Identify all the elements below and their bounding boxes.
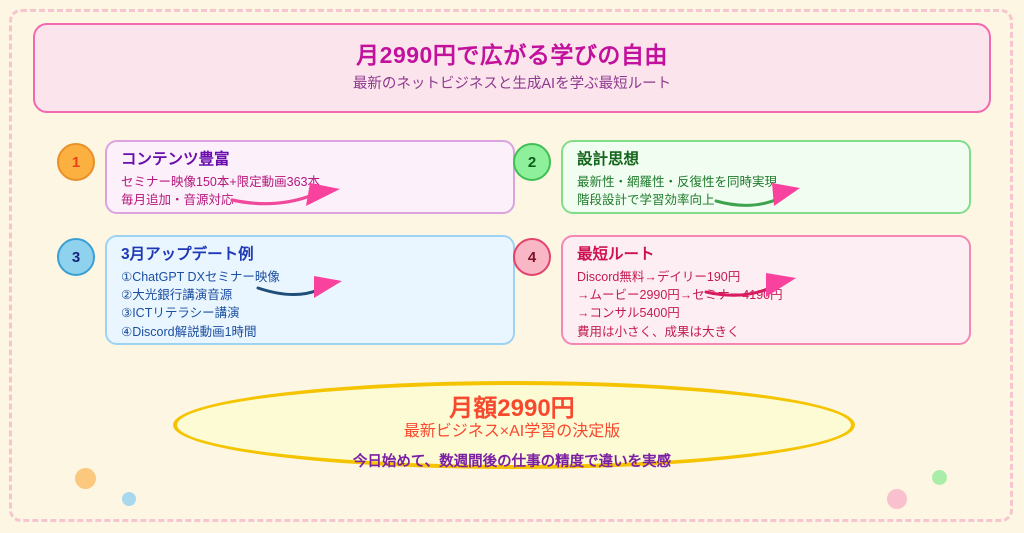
- card-march-updates[interactable]: 3月アップデート例 ①ChatGPT DXセミナー映像 ②大光銀行講演音源 ③I…: [105, 235, 515, 345]
- dot-blue: [122, 492, 136, 506]
- card-shortest-route[interactable]: 最短ルート Discord無料→デイリー190円 →ムービー2990円→セミナー…: [561, 235, 971, 345]
- card-body-1: セミナー映像150本+限定動画363本 毎月追加・音源対応: [121, 173, 513, 210]
- card-badge-3: 3: [57, 238, 95, 276]
- card-badge-4: 4: [513, 238, 551, 276]
- dot-green: [932, 470, 947, 485]
- card-title-2: 設計思想: [577, 151, 969, 169]
- card-badge-2: 2: [513, 143, 551, 181]
- card-title-1: コンテンツ豊富: [121, 151, 513, 169]
- card-title-4: 最短ルート: [577, 246, 969, 264]
- card-title-3: 3月アップデート例: [121, 246, 513, 264]
- infographic-canvas: 月2990円で広がる学びの自由 最新のネットビジネスと生成AIを学ぶ最短ルート …: [0, 0, 1024, 533]
- page-title: 月2990円で広がる学びの自由: [356, 43, 668, 68]
- dot-pink: [887, 489, 907, 509]
- card-body-3: ①ChatGPT DXセミナー映像 ②大光銀行講演音源 ③ICTリテラシー講演 …: [121, 268, 513, 341]
- card-content-richness[interactable]: コンテンツ豊富 セミナー映像150本+限定動画363本 毎月追加・音源対応: [105, 140, 515, 214]
- header-banner: 月2990円で広がる学びの自由 最新のネットビジネスと生成AIを学ぶ最短ルート: [33, 23, 991, 113]
- card-badge-1: 1: [57, 143, 95, 181]
- page-subtitle: 最新のネットビジネスと生成AIを学ぶ最短ルート: [353, 77, 671, 93]
- card-body-4: Discord無料→デイリー190円 →ムービー2990円→セミナー4190円 …: [577, 268, 969, 341]
- dot-orange: [75, 468, 96, 489]
- price-subtitle: 最新ビジネス×AI学習の決定版: [0, 424, 1024, 441]
- price-amount: 月額2990円: [0, 396, 1024, 421]
- call-to-action-text: 今日始めて、数週間後の仕事の精度で違いを実感: [0, 455, 1024, 470]
- card-design-philosophy[interactable]: 設計思想 最新性・網羅性・反復性を同時実現 階段設計で学習効率向上: [561, 140, 971, 214]
- card-body-2: 最新性・網羅性・反復性を同時実現 階段設計で学習効率向上: [577, 173, 969, 210]
